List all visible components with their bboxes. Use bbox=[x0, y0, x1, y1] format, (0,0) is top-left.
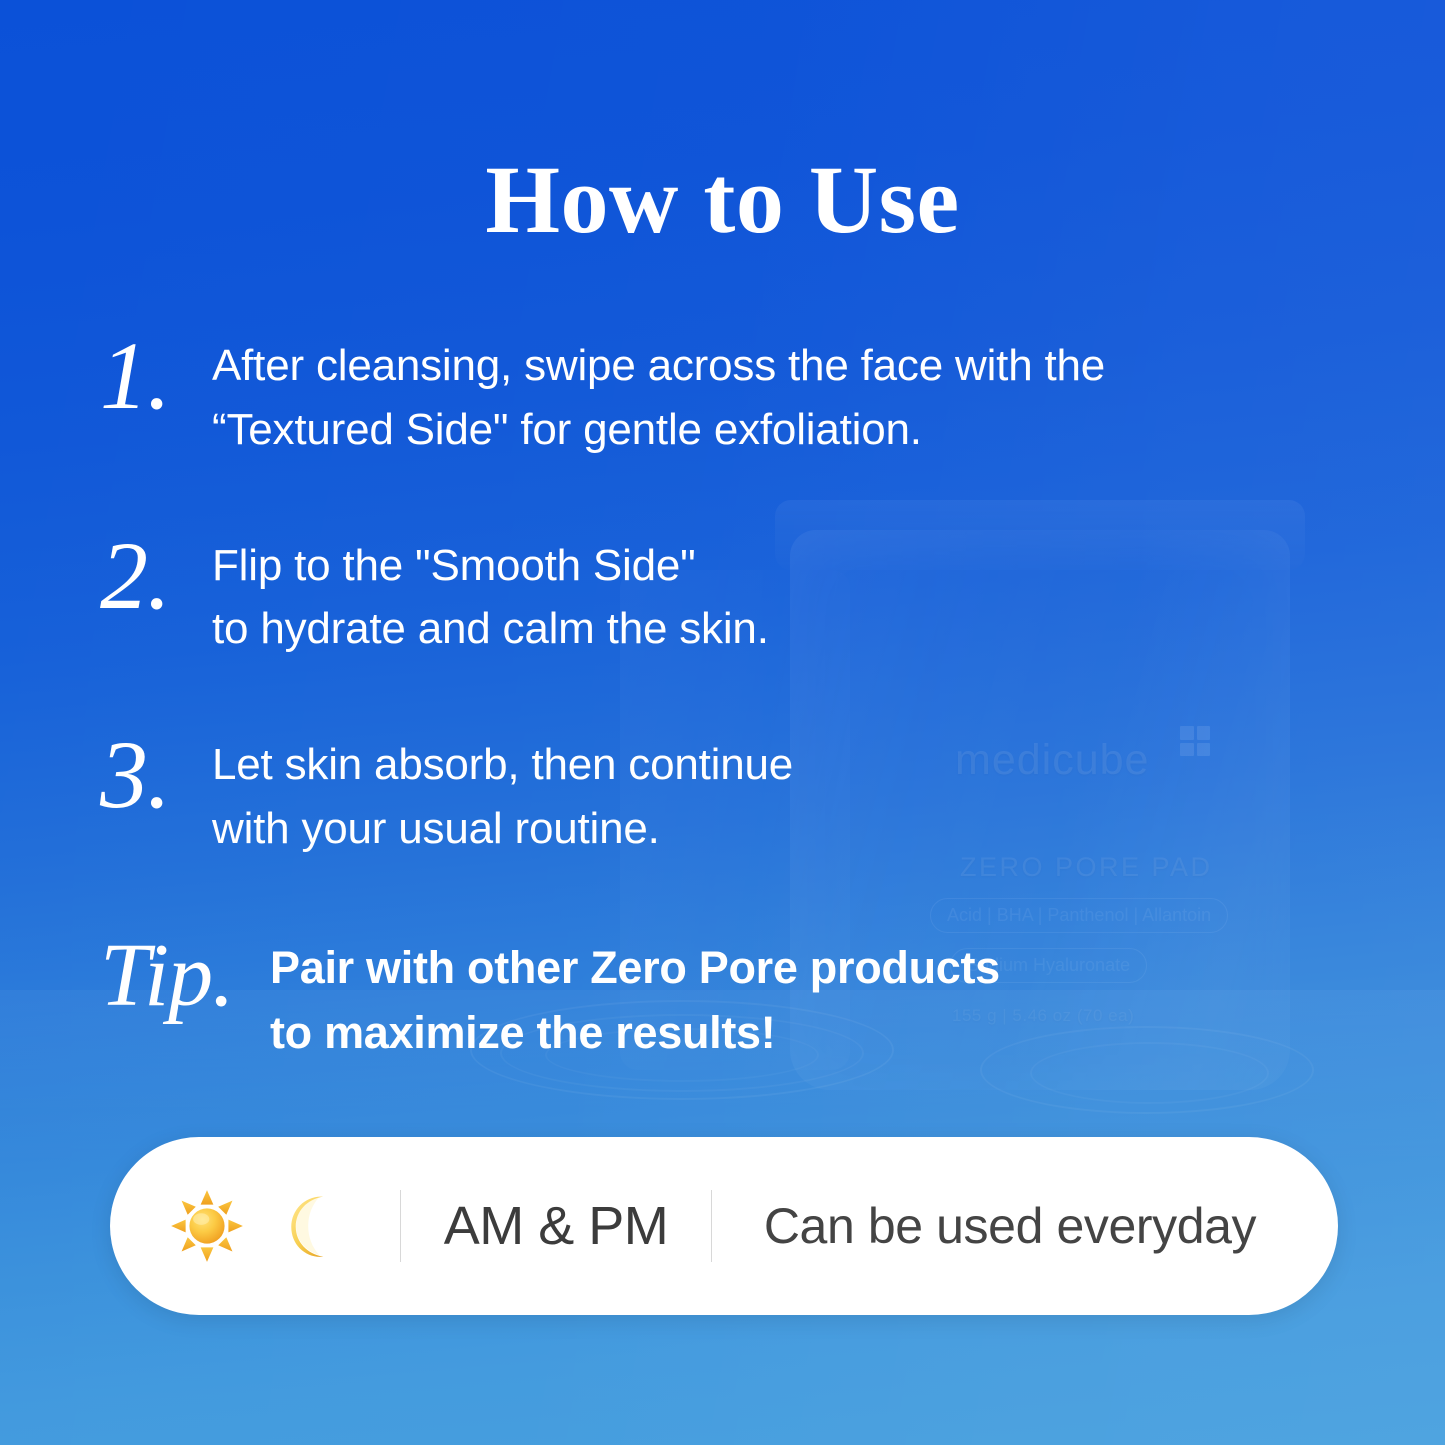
tip-text-line: Pair with other Zero Pore products bbox=[270, 935, 1280, 1000]
step-text-line: to hydrate and calm the skin. bbox=[212, 597, 1280, 661]
badge-time-of-day: AM & PM bbox=[401, 1195, 711, 1257]
step-item-3: 3. Let skin absorb, then continue with y… bbox=[100, 717, 1280, 861]
step-text-line: Flip to the "Smooth Side" bbox=[212, 534, 1280, 598]
step-text-line: Let skin absorb, then continue bbox=[212, 733, 1280, 797]
step-text-line: After cleansing, swipe across the face w… bbox=[212, 334, 1280, 398]
sun-icon bbox=[170, 1189, 244, 1263]
tip-text-line: to maximize the results! bbox=[270, 1000, 1280, 1065]
step-number-2: 2. bbox=[100, 518, 212, 624]
step-text-line: “Textured Side" for gentle exfoliation. bbox=[212, 398, 1280, 462]
usage-badge-icons bbox=[110, 1189, 400, 1263]
step-text-line: with your usual routine. bbox=[212, 797, 1280, 861]
steps-list: 1. After cleansing, swipe across the fac… bbox=[100, 318, 1280, 1065]
badge-frequency: Can be used everyday bbox=[712, 1197, 1338, 1255]
step-text-1: After cleansing, swipe across the face w… bbox=[212, 318, 1280, 462]
step-text-2: Flip to the "Smooth Side" to hydrate and… bbox=[212, 518, 1280, 662]
step-item-2: 2. Flip to the "Smooth Side" to hydrate … bbox=[100, 518, 1280, 662]
tip-item: Tip. Pair with other Zero Pore products … bbox=[100, 917, 1280, 1066]
usage-badge: AM & PM Can be used everyday bbox=[110, 1137, 1338, 1315]
tip-text: Pair with other Zero Pore products to ma… bbox=[270, 917, 1280, 1066]
page-title: How to Use bbox=[0, 152, 1445, 248]
content-layer: How to Use 1. After cleansing, swipe acr… bbox=[0, 0, 1445, 1445]
tip-marker: Tip. bbox=[100, 917, 270, 1021]
crescent-moon-icon bbox=[266, 1189, 340, 1263]
step-item-1: 1. After cleansing, swipe across the fac… bbox=[100, 318, 1280, 462]
step-number-1: 1. bbox=[100, 318, 212, 424]
step-text-3: Let skin absorb, then continue with your… bbox=[212, 717, 1280, 861]
how-to-use-infographic: medicube ZERO PORE PAD Acid | BHA | Pant… bbox=[0, 0, 1445, 1445]
step-number-3: 3. bbox=[100, 717, 212, 823]
